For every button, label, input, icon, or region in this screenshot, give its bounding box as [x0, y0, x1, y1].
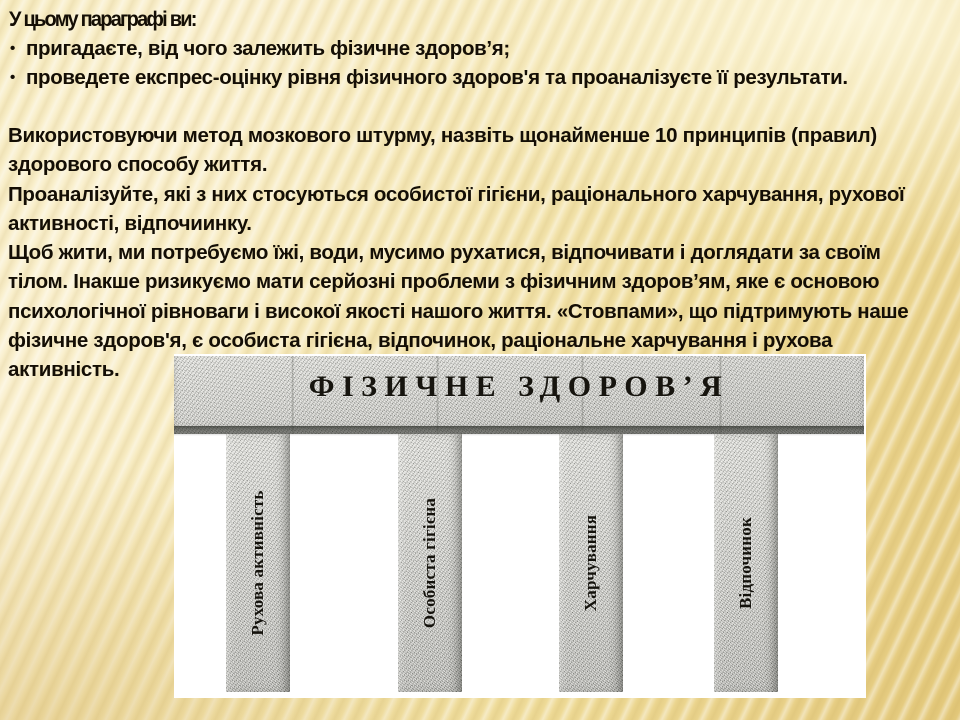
pillar-kharchuvannia: Харчування	[559, 434, 623, 692]
body-line: тілом. Інакше ризикуємо мати серйозні пр…	[8, 267, 956, 296]
pillar-osobysta-hihiena: Особиста гігієна	[398, 434, 462, 692]
slide-content: У цьому параграфі ви: • пригадаєте, від …	[0, 0, 960, 720]
body-text: Використовуючи метод мозкового штурму, н…	[8, 121, 956, 385]
page-title: У цьому параграфі ви:	[9, 7, 196, 32]
body-line: активності, відпочиинку.	[8, 209, 956, 238]
body-line: Проаналізуйте, які з них стосуються особ…	[8, 180, 956, 209]
pillar-vidpochynok: Відпочинок	[714, 434, 778, 692]
pillar-label: Відпочинок	[736, 517, 756, 609]
body-line: Щоб жити, ми потребуємо їжі, води, мусим…	[8, 238, 956, 267]
lintel-title-text: ФІЗИЧНЕ ЗДОРОВ’Я	[174, 370, 864, 404]
pillar-label: Харчування	[581, 515, 601, 611]
stone-temple-image: ФІЗИЧНЕ ЗДОРОВ’Я Рухова активність Особи…	[174, 354, 866, 698]
objectives-list: • пригадаєте, від чого залежить фізичне …	[10, 34, 950, 92]
list-item: • проведете експрес-оцінку рівня фізично…	[10, 63, 950, 92]
pillar-label: Рухова активність	[248, 490, 268, 635]
list-item-label: проведете експрес-оцінку рівня фізичного…	[26, 63, 848, 92]
body-line: Використовуючи метод мозкового штурму, н…	[8, 121, 956, 150]
list-item: • пригадаєте, від чого залежить фізичне …	[10, 34, 950, 63]
bullet-dot-icon: •	[10, 63, 26, 92]
body-line: психологічної рівноваги і високої якості…	[8, 297, 956, 326]
body-line: здорового способу життя.	[8, 150, 956, 179]
list-item-label: пригадаєте, від чого залежить фізичне зд…	[26, 34, 510, 63]
body-line: фізичне здоров'я, є особиста гігієна, ві…	[8, 326, 956, 355]
bullet-dot-icon: •	[10, 34, 26, 63]
pillar-label: Особиста гігієна	[420, 498, 440, 628]
pillar-rukhova-aktyvnist: Рухова активність	[226, 434, 290, 692]
